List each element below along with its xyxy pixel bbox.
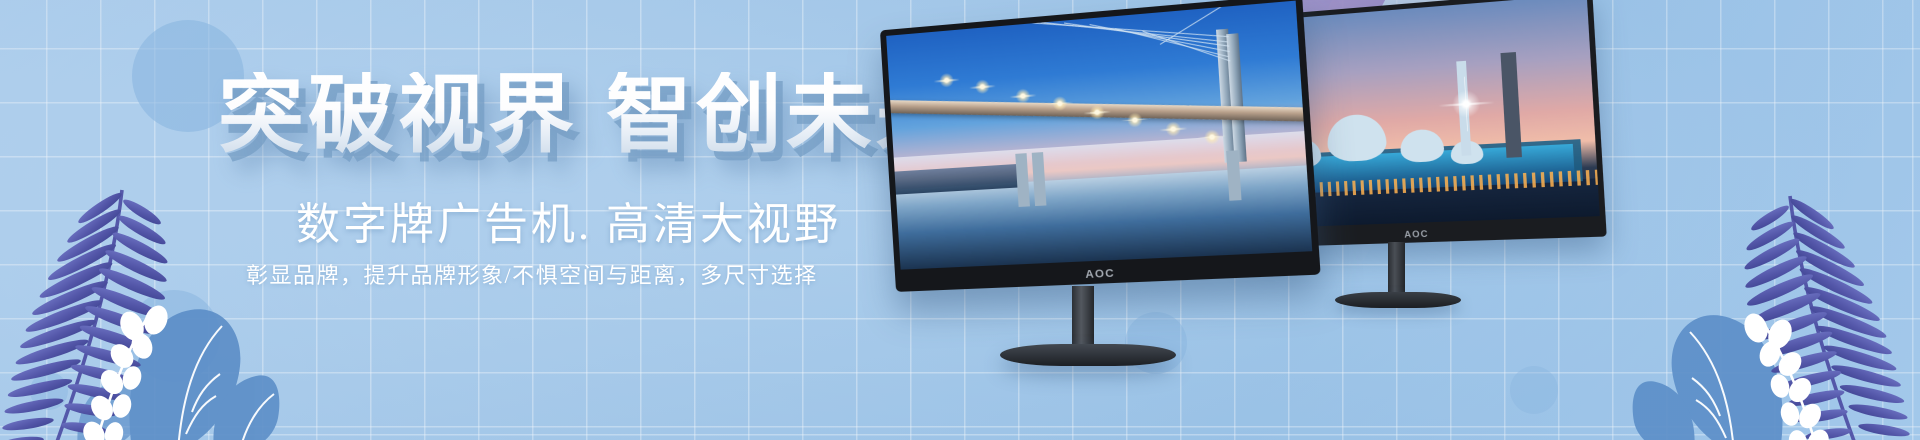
bridge-lamp [1052, 95, 1067, 110]
subheadline: 数字牌广告机. 高清大视野 [296, 188, 841, 252]
promo-banner: 突破视界 智创未来 数字牌广告机. 高清大视野 彰显品牌，提升品牌形象/不惧空间… [0, 0, 1920, 440]
lens-flare [1451, 90, 1481, 119]
bridge-lamp [975, 80, 990, 95]
page-title: 突破视界 智创未来 [218, 72, 966, 158]
tagline: 彰显品牌，提升品牌形象/不惧空间与距离，多尺寸选择 [246, 258, 818, 290]
bridge-lamp [1015, 88, 1030, 103]
bridge-lamp [1089, 105, 1105, 121]
product-imagery: AOC [880, 0, 1920, 440]
bridge-lamp [1127, 112, 1143, 128]
bridge-lamp [1165, 121, 1181, 137]
mosque-dome [1400, 129, 1444, 163]
copy-block: 突破视界 智创未来 数字牌广告机. 高清大视野 彰显品牌，提升品牌形象/不惧空间… [0, 0, 960, 440]
front-monitor-stand-neck [1072, 286, 1094, 352]
rear-monitor-stand-base [1335, 292, 1461, 308]
front-monitor-screen [886, 1, 1312, 270]
front-monitor-logo: AOC [1085, 267, 1115, 281]
mosque-dome [1326, 113, 1387, 163]
rear-monitor-logo: AOC [1404, 229, 1429, 240]
front-monitor: AOC [880, 0, 1321, 292]
rear-monitor-stand-neck [1388, 242, 1405, 296]
front-monitor-stand-base [1000, 344, 1176, 366]
bridge-lamp [939, 73, 954, 88]
front-monitor-bezel: AOC [880, 0, 1321, 292]
